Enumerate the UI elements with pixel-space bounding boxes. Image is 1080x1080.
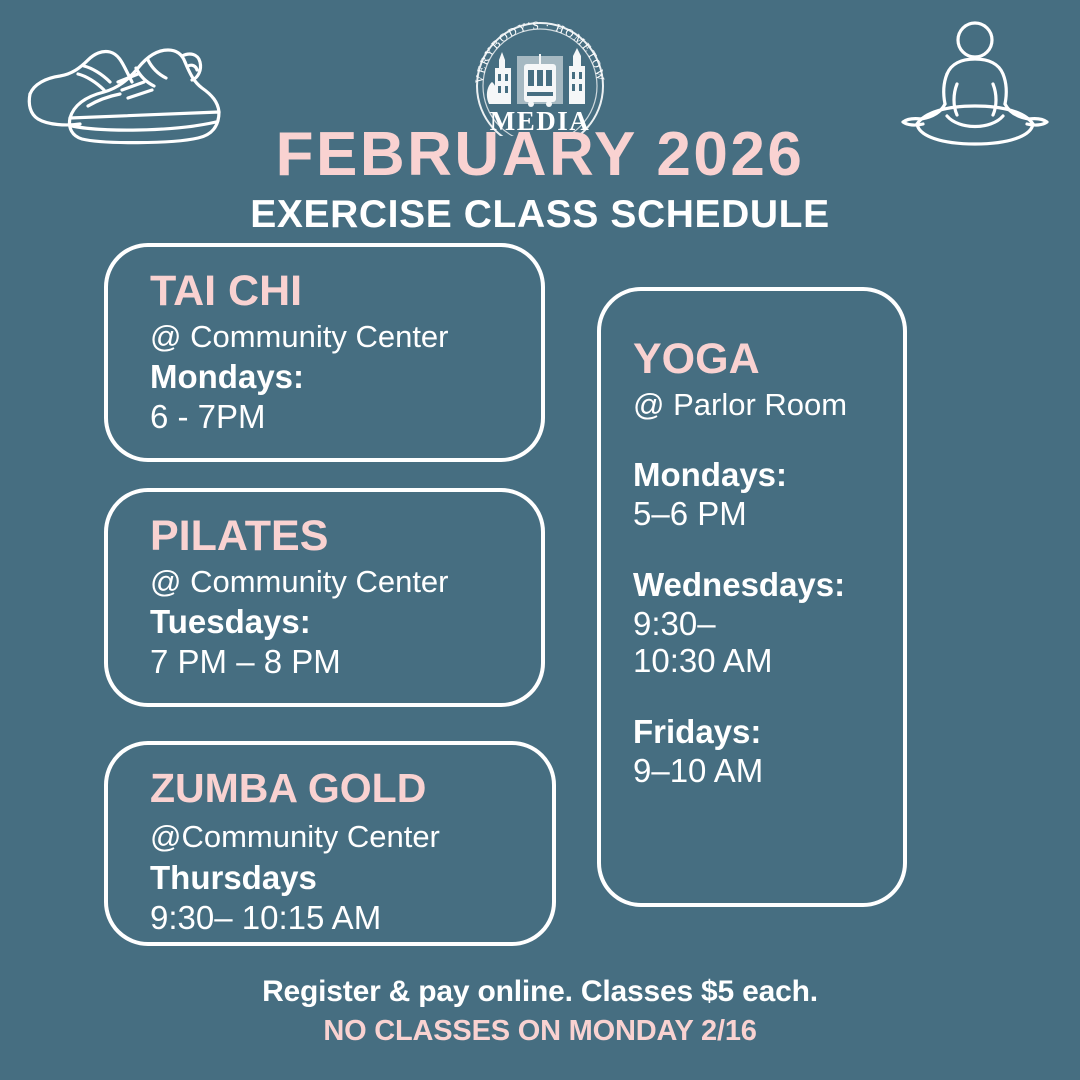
class-time: 7 PM – 8 PM bbox=[150, 644, 541, 681]
class-time: 9:30–10:30 AM bbox=[633, 606, 903, 680]
spacer bbox=[633, 423, 903, 457]
footer-registration-note: Register & pay online. Classes $5 each. bbox=[0, 975, 1080, 1009]
class-title: YOGA bbox=[633, 337, 903, 382]
page-subtitle: EXERCISE CLASS SCHEDULE bbox=[0, 195, 1080, 234]
class-card-zumba-gold[interactable]: ZUMBA GOLD @Community Center Thursdays 9… bbox=[104, 741, 556, 946]
class-title: ZUMBA GOLD bbox=[150, 767, 552, 810]
class-title: TAI CHI bbox=[150, 269, 541, 314]
class-card-tai-chi[interactable]: TAI CHI @ Community Center Mondays: 6 - … bbox=[104, 243, 545, 462]
footer: Register & pay online. Classes $5 each. … bbox=[0, 975, 1080, 1047]
spacer bbox=[633, 680, 903, 714]
class-location: @Community Center bbox=[150, 820, 552, 855]
class-day: Fridays: bbox=[633, 714, 903, 751]
page-title-month: FEBRUARY 2026 bbox=[0, 124, 1080, 186]
spacer bbox=[633, 533, 903, 567]
class-day: Mondays: bbox=[150, 359, 541, 396]
class-location: @ Community Center bbox=[150, 320, 541, 355]
class-time: 5–6 PM bbox=[633, 496, 903, 533]
class-day: Tuesdays: bbox=[150, 604, 541, 641]
class-location: @ Parlor Room bbox=[633, 388, 903, 423]
class-day: Wednesdays: bbox=[633, 567, 903, 604]
class-day: Mondays: bbox=[633, 457, 903, 494]
class-card-yoga[interactable]: YOGA @ Parlor Room Mondays: 5–6 PM Wedne… bbox=[597, 287, 907, 907]
hometown-media-logo: EVERYBODY'S · HOMETOWN bbox=[465, 8, 615, 136]
class-time: 9–10 AM bbox=[633, 753, 903, 790]
class-location: @ Community Center bbox=[150, 565, 541, 600]
class-time: 6 - 7PM bbox=[150, 399, 541, 436]
class-card-pilates[interactable]: PILATES @ Community Center Tuesdays: 7 P… bbox=[104, 488, 545, 707]
class-title: PILATES bbox=[150, 514, 541, 559]
footer-no-classes-note: NO CLASSES ON MONDAY 2/16 bbox=[0, 1015, 1080, 1047]
class-day: Thursdays bbox=[150, 860, 552, 897]
class-time: 9:30– 10:15 AM bbox=[150, 900, 552, 937]
header: FEBRUARY 2026 EXERCISE CLASS SCHEDULE bbox=[0, 124, 1080, 234]
